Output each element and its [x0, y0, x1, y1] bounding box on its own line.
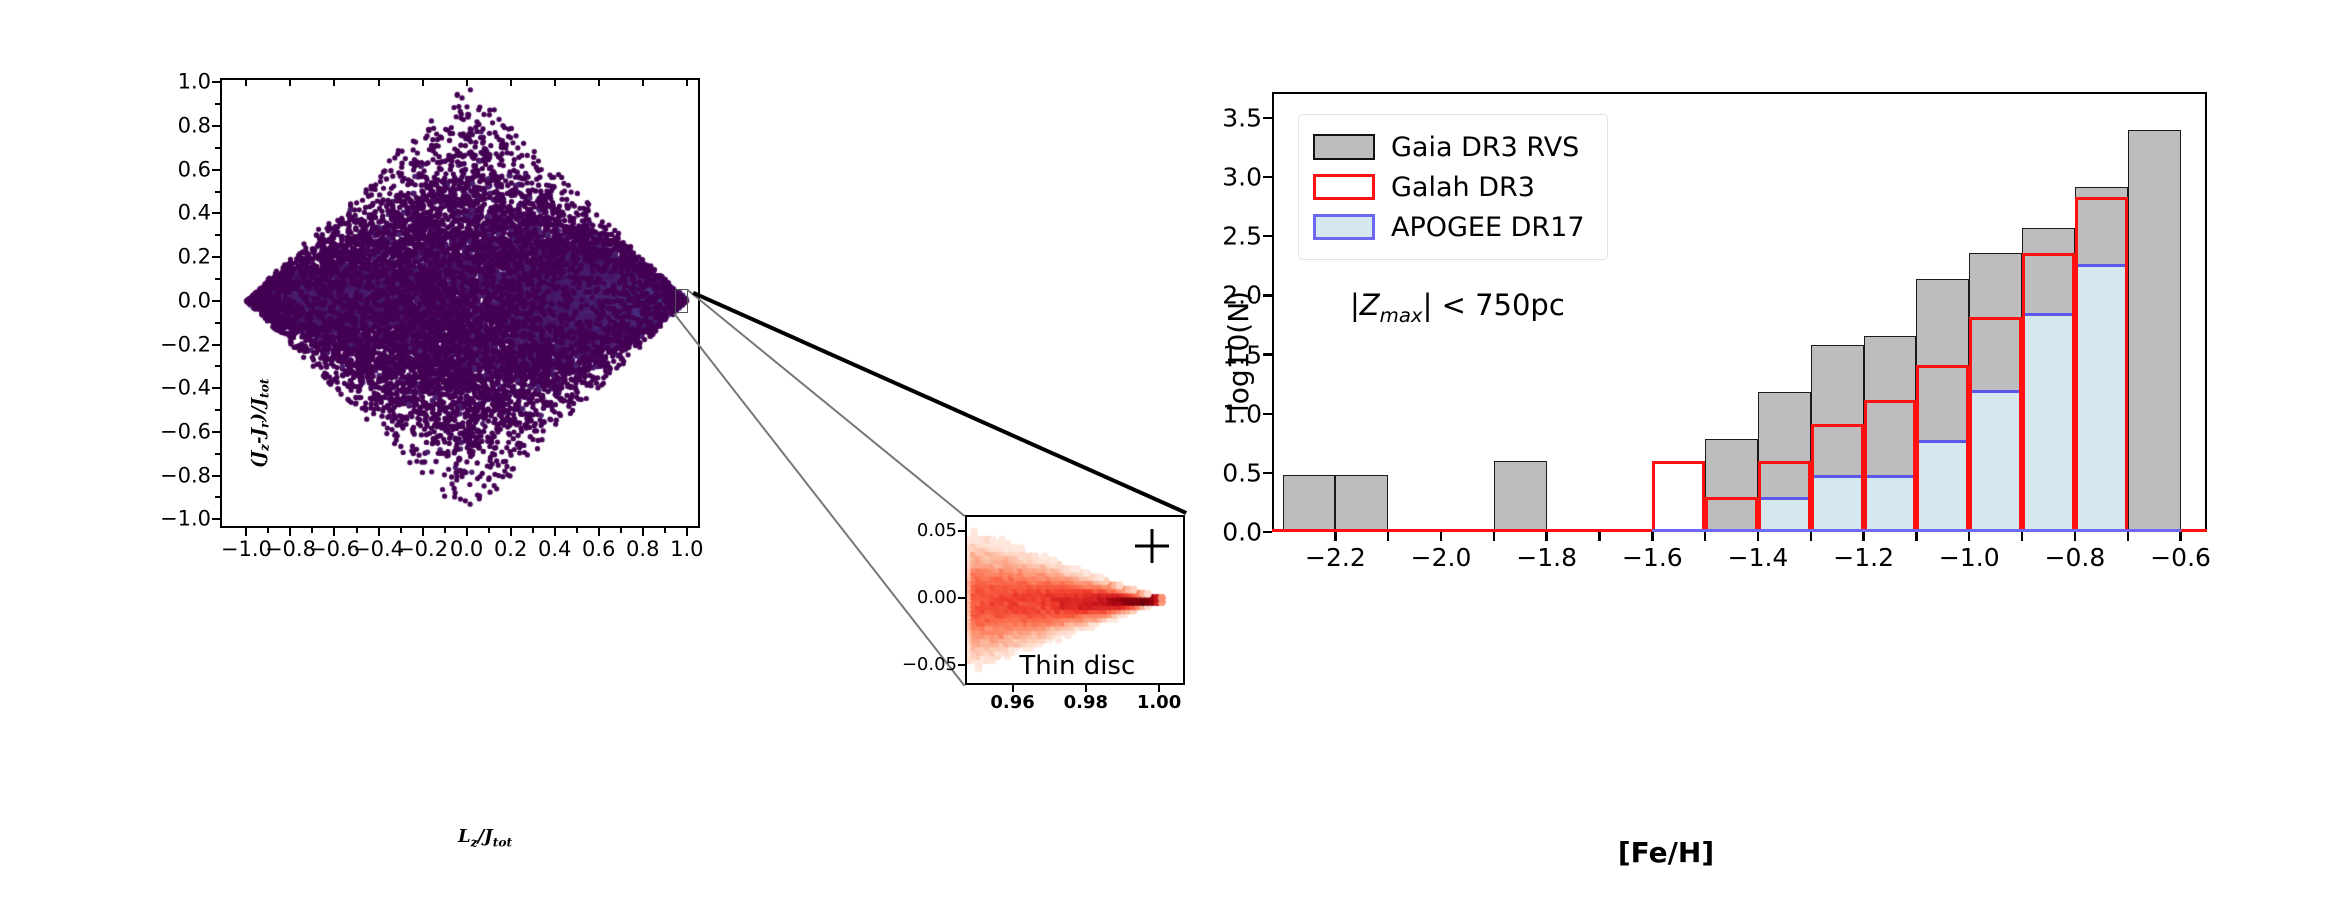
left-x-tickmark: [378, 528, 380, 536]
left-x-top-tickmark: [466, 78, 468, 86]
legend-swatch-apogee: [1313, 214, 1375, 240]
left-x-tickmark: [289, 528, 291, 536]
legend-row-gaia: Gaia DR3 RVS: [1313, 127, 1585, 167]
histogram-bar-galah: [2075, 197, 2128, 532]
legend-swatch-galah: [1313, 174, 1375, 200]
left-panel-y-axis-label: (Jz-Jr)/Jtot: [248, 378, 272, 468]
hist-x-tick-label: −1.6: [1622, 545, 1683, 570]
hist-x-tickmark: [2074, 532, 2076, 541]
histogram-bar-gaia: [1494, 461, 1547, 532]
left-y-minor-tickmark: [215, 496, 220, 498]
zmax-annotation: |Zmax| < 750pc: [1350, 288, 1565, 327]
inset-y-tickmark: [958, 597, 965, 599]
hist-x-tickmark: [1651, 532, 1653, 541]
left-x-tickmark: [554, 528, 556, 536]
left-x-tickmark: [598, 528, 600, 536]
histogram-bar-galah: [1969, 317, 2022, 532]
left-y-minor-tickmark: [215, 278, 220, 280]
hist-x-tick-label: −1.2: [1833, 545, 1894, 570]
left-x-top-tickmark: [378, 78, 380, 86]
left-y-tick-label: 0.6: [178, 159, 211, 180]
inset-y-tick-label: 0.05: [917, 522, 957, 540]
legend-row-galah: Galah DR3: [1313, 167, 1585, 207]
histogram-bar-gaia: [2128, 130, 2181, 532]
left-x-tickmark: [466, 528, 468, 536]
left-x-tick-label: −0.2: [397, 539, 448, 560]
left-x-tick-label: 0.8: [626, 539, 659, 560]
plus-marker-icon: [1135, 529, 1169, 563]
hist-x-tick-label: −0.6: [2150, 545, 2211, 570]
left-y-tick-label: 1.0: [178, 72, 211, 93]
left-x-tickmark: [422, 528, 424, 536]
hist-x-tick-label: −1.8: [1516, 545, 1577, 570]
left-x-tickmark: [642, 528, 644, 536]
inset-y-tickmark: [958, 530, 965, 532]
left-x-top-tickmark: [333, 78, 335, 86]
left-x-minor-tickmark: [400, 528, 402, 533]
legend-row-apogee: APOGEE DR17: [1313, 207, 1585, 247]
histogram-x-axis-label: [Fe/H]: [1618, 836, 1714, 869]
histogram-bar-galah: [1705, 497, 1758, 532]
left-x-minor-tickmark: [532, 528, 534, 533]
figure-canvas: 1.00.80.60.40.20.0−0.2−0.4−0.6−0.8−1.0−1…: [0, 0, 2325, 900]
hist-x-tick-label: −2.0: [1411, 545, 1472, 570]
left-y-tickmark: [212, 518, 220, 520]
left-y-tick-label: −0.6: [160, 421, 211, 442]
hist-x-tick-label: −1.0: [1939, 545, 2000, 570]
left-y-minor-tickmark: [215, 322, 220, 324]
left-y-tick-label: −0.8: [160, 465, 211, 486]
left-y-tickmark: [212, 169, 220, 171]
zoom-connector-line: [687, 289, 965, 516]
legend-label-apogee: APOGEE DR17: [1391, 212, 1585, 243]
hist-x-tick-label: −0.8: [2045, 545, 2106, 570]
left-y-minor-tickmark: [215, 103, 220, 105]
left-x-top-tickmark: [642, 78, 644, 86]
hist-x-minor-tickmark: [2021, 532, 2023, 541]
left-y-minor-tickmark: [215, 191, 220, 193]
hist-x-tick-label: −1.4: [1728, 545, 1789, 570]
inset-axes-frame: Thin disc: [965, 515, 1185, 685]
left-x-tickmark: [686, 528, 688, 536]
zoom-indicator-box: [675, 289, 688, 313]
histogram-legend: Gaia DR3 RVSGalah DR3APOGEE DR17: [1298, 114, 1608, 260]
histogram-baseline-edge: [2181, 529, 2207, 532]
left-x-tickmark: [510, 528, 512, 536]
inset-x-tick-label: 1.00: [1137, 694, 1181, 712]
left-x-top-tickmark: [289, 78, 291, 86]
left-y-minor-tickmark: [215, 147, 220, 149]
hist-x-minor-tickmark: [1598, 532, 1600, 541]
left-y-minor-tickmark: [215, 365, 220, 367]
hist-x-tickmark: [2179, 532, 2181, 541]
left-x-minor-tickmark: [488, 528, 490, 533]
hist-y-tickmark: [1263, 117, 1272, 119]
left-x-tick-label: 0.0: [450, 539, 483, 560]
left-y-minor-tickmark: [215, 409, 220, 411]
action-space-scatter-points: [220, 78, 700, 528]
hist-x-tickmark: [1862, 532, 1864, 541]
histogram-baseline-edge: [1272, 529, 1652, 532]
left-x-tickmark: [333, 528, 335, 536]
hist-x-minor-tickmark: [1704, 532, 1706, 541]
left-x-minor-tickmark: [444, 528, 446, 533]
left-x-top-tickmark: [245, 78, 247, 86]
left-y-tick-label: 0.0: [178, 290, 211, 311]
left-y-tick-label: 0.2: [178, 247, 211, 268]
left-x-tick-label: 1.0: [670, 539, 703, 560]
inset-label: Thin disc: [1019, 651, 1135, 681]
left-y-tick-label: −1.0: [160, 509, 211, 530]
left-x-minor-tickmark: [620, 528, 622, 533]
hist-y-tick-label: 2.5: [1222, 224, 1262, 249]
left-y-tick-label: 0.8: [178, 116, 211, 137]
histogram-bar-gaia: [1283, 475, 1336, 532]
hist-x-tickmark: [1545, 532, 1547, 541]
left-x-tick-label: 0.2: [494, 539, 527, 560]
histogram-bar-galah: [1811, 424, 1864, 532]
left-y-tickmark: [212, 212, 220, 214]
inset-x-tick-label: 0.98: [1064, 694, 1108, 712]
legend-label-galah: Galah DR3: [1391, 172, 1535, 203]
zoom-connector-line: [673, 313, 965, 686]
left-y-tickmark: [212, 300, 220, 302]
hist-y-tickmark: [1263, 413, 1272, 415]
left-y-tickmark: [212, 81, 220, 83]
hist-x-minor-tickmark: [1387, 532, 1389, 541]
histogram-bar-galah: [1916, 365, 1969, 532]
hist-x-minor-tickmark: [1810, 532, 1812, 541]
inset-callout-line: [692, 291, 1187, 515]
left-y-tickmark: [212, 256, 220, 258]
left-x-minor-tickmark: [311, 528, 313, 533]
thin-disc-inset-panel: Thin disc 0.050.00−0.050.960.981.00: [965, 515, 1185, 685]
inset-x-tickmark: [1085, 685, 1087, 692]
left-x-top-tickmark: [598, 78, 600, 86]
left-y-tickmark: [212, 431, 220, 433]
inset-x-tickmark: [1012, 685, 1014, 692]
legend-swatch-gaia: [1313, 134, 1375, 160]
hist-y-tickmark: [1263, 176, 1272, 178]
histogram-y-axis-label: log10(N): [1222, 291, 1255, 412]
left-x-top-tickmark: [422, 78, 424, 86]
left-y-minor-tickmark: [215, 453, 220, 455]
left-y-tickmark: [212, 387, 220, 389]
left-y-tickmark: [212, 344, 220, 346]
inset-y-tickmark: [958, 664, 965, 666]
hist-x-minor-tickmark: [1493, 532, 1495, 541]
left-x-top-tickmark: [554, 78, 556, 86]
inset-x-tick-label: 0.96: [990, 694, 1034, 712]
histogram-bar-galah: [1758, 461, 1811, 532]
left-x-minor-tickmark: [267, 528, 269, 533]
hist-y-tickmark: [1263, 294, 1272, 296]
hist-y-tickmark: [1263, 531, 1272, 533]
histogram-bar-galah: [2022, 253, 2075, 532]
left-x-tick-label: 0.4: [538, 539, 571, 560]
left-x-minor-tickmark: [576, 528, 578, 533]
left-x-minor-tickmark: [356, 528, 358, 533]
left-panel-x-axis-label: Lz/Jtot: [458, 826, 512, 850]
hist-x-tickmark: [1440, 532, 1442, 541]
hist-y-tick-label: 0.0: [1222, 520, 1262, 545]
legend-label-gaia: Gaia DR3 RVS: [1391, 132, 1579, 163]
left-scatter-panel: 1.00.80.60.40.20.0−0.2−0.4−0.6−0.8−1.0−1…: [220, 78, 700, 528]
hist-y-tickmark: [1263, 353, 1272, 355]
left-y-tick-label: −0.4: [160, 378, 211, 399]
left-y-tick-label: −0.2: [160, 334, 211, 355]
histogram-bar-galah: [1864, 400, 1917, 532]
hist-x-tickmark: [1968, 532, 1970, 541]
left-x-tick-label: 0.6: [582, 539, 615, 560]
histogram-panel: 0.00.51.01.52.02.53.03.5−2.2−2.0−1.8−1.6…: [1272, 92, 2207, 532]
hist-x-tick-label: −2.2: [1305, 545, 1366, 570]
left-x-top-tickmark: [686, 78, 688, 86]
left-y-tickmark: [212, 125, 220, 127]
hist-x-minor-tickmark: [2127, 532, 2129, 541]
hist-x-tickmark: [1757, 532, 1759, 541]
left-y-tickmark: [212, 475, 220, 477]
hist-y-tick-label: 0.5: [1222, 460, 1262, 485]
histogram-baseline-edge: [1652, 529, 2180, 532]
histogram-bar-galah: [1652, 461, 1705, 532]
left-y-tick-label: 0.4: [178, 203, 211, 224]
hist-y-tickmark: [1263, 472, 1272, 474]
inset-y-tick-label: 0.00: [917, 589, 957, 607]
hist-y-tickmark: [1263, 235, 1272, 237]
left-x-top-tickmark: [510, 78, 512, 86]
left-x-minor-tickmark: [664, 528, 666, 533]
hist-x-tickmark: [1334, 532, 1336, 541]
left-y-minor-tickmark: [215, 234, 220, 236]
inset-y-tick-label: −0.05: [902, 656, 957, 674]
left-x-tickmark: [245, 528, 247, 536]
hist-x-minor-tickmark: [1915, 532, 1917, 541]
histogram-bar-gaia: [1335, 475, 1388, 532]
inset-x-tickmark: [1158, 685, 1160, 692]
hist-y-tick-label: 3.0: [1222, 165, 1262, 190]
hist-y-tick-label: 3.5: [1222, 106, 1262, 131]
